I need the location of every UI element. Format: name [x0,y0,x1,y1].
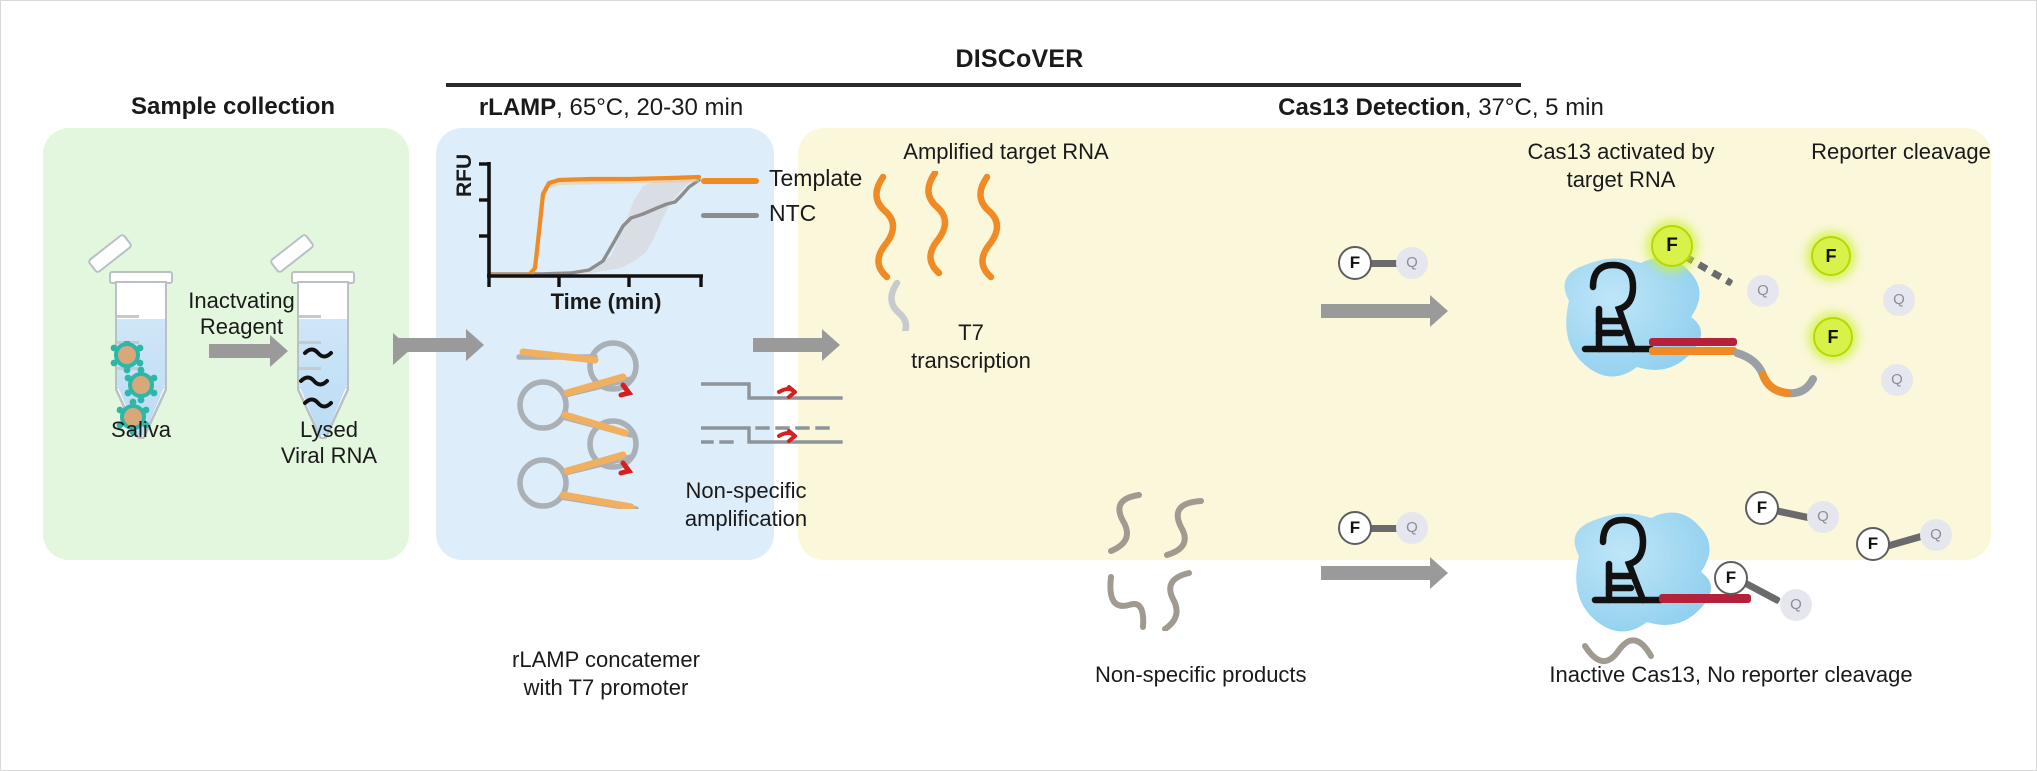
plot-xlabel: Time (min) [481,289,731,315]
arrow-rlamp-to-cas13 [753,338,823,352]
label-concatemer-line2: with T7 promoter [456,674,756,702]
label-lysed-line2: Viral RNA [239,442,419,470]
quencher-q-icon: Q [1780,589,1812,621]
cas13-active-complex [1541,241,1831,421]
arrow-top-reaction [1321,304,1431,318]
quencher-q-icon: Q [1396,247,1428,279]
panel-title-cas13: Cas13 Detection, 37°C, 5 min [1011,93,1871,123]
fluorophore-f-icon: F [1651,225,1693,267]
label-amplified-target-rna: Amplified target RNA [841,138,1171,166]
tube-graduation [299,315,321,318]
label-reporter-cleavage: Reporter cleavage [1776,138,2026,166]
quencher-q-icon: Q [1807,501,1839,533]
panel-title-cas13-bold: Cas13 Detection [1278,94,1465,121]
label-nonspecific-amplification-line2: amplification [646,505,846,533]
free-quencher-2: Q [1881,364,1913,396]
panel-title-rlamp-bold: rLAMP [479,94,556,121]
label-inactive-cas13: Inactive Cas13, No reporter cleavage [1481,661,1981,689]
tube-lysed-viral-rna [291,263,355,439]
free-quencher-1: Q [1883,284,1915,316]
label-t7-line1: T7 [881,319,1061,347]
non-specific-amplification-diagram [701,366,861,476]
panel-title-cas13-rest: , 37°C, 5 min [1465,94,1604,121]
amplified-target-rna-icon [861,171,1061,331]
discover-underline [446,83,1521,87]
label-nonspecific-amplification-line1: Non-specific [646,477,846,505]
fluorophore-f-icon: F [1714,561,1748,595]
tube-saliva [109,263,173,439]
panel-title-rlamp-rest: , 65°C, 20-30 min [556,94,743,121]
figure-canvas: DISCoVER Sample collection rLAMP, 65°C, … [0,0,2037,771]
discover-label: DISCoVER [1,45,2037,74]
label-lysed-line1: Lysed [249,416,409,444]
label-saliva: Saliva [61,416,221,444]
fluorophore-f-icon: F [1338,511,1372,545]
plot-ylabel: RFU [453,154,477,197]
label-cas13-activated-line1: Cas13 activated by [1456,138,1786,166]
fluorophore-f-icon: F [1856,527,1890,561]
legend-swatch-ntc [701,213,759,218]
fluorophore-f-icon: F [1338,246,1372,280]
legend-label-ntc: NTC [769,200,816,227]
fluorophore-f-icon: F [1745,491,1779,525]
tube-graduation [117,315,139,318]
quencher-q-icon: Q [1396,512,1428,544]
quencher-q-icon: Q [1920,519,1952,551]
label-concatemer-line1: rLAMP concatemer [456,646,756,674]
panel-title-sample-collection: Sample collection [43,93,423,121]
non-specific-products-icon [1091,481,1271,631]
label-cas13-activated-line2: target RNA [1456,166,1786,194]
arrow-inactivating-reagent [209,344,271,358]
label-t7-line2: transcription [861,347,1081,375]
legend-label-template: Template [769,165,862,192]
label-non-specific-products: Non-specific products [1095,661,1455,689]
panel-title-rlamp: rLAMP, 65°C, 20-30 min [441,93,781,123]
quencher-q-icon: Q [1747,275,1779,307]
legend-swatch-template [701,178,759,184]
arrow-bottom-reaction [1321,566,1431,580]
